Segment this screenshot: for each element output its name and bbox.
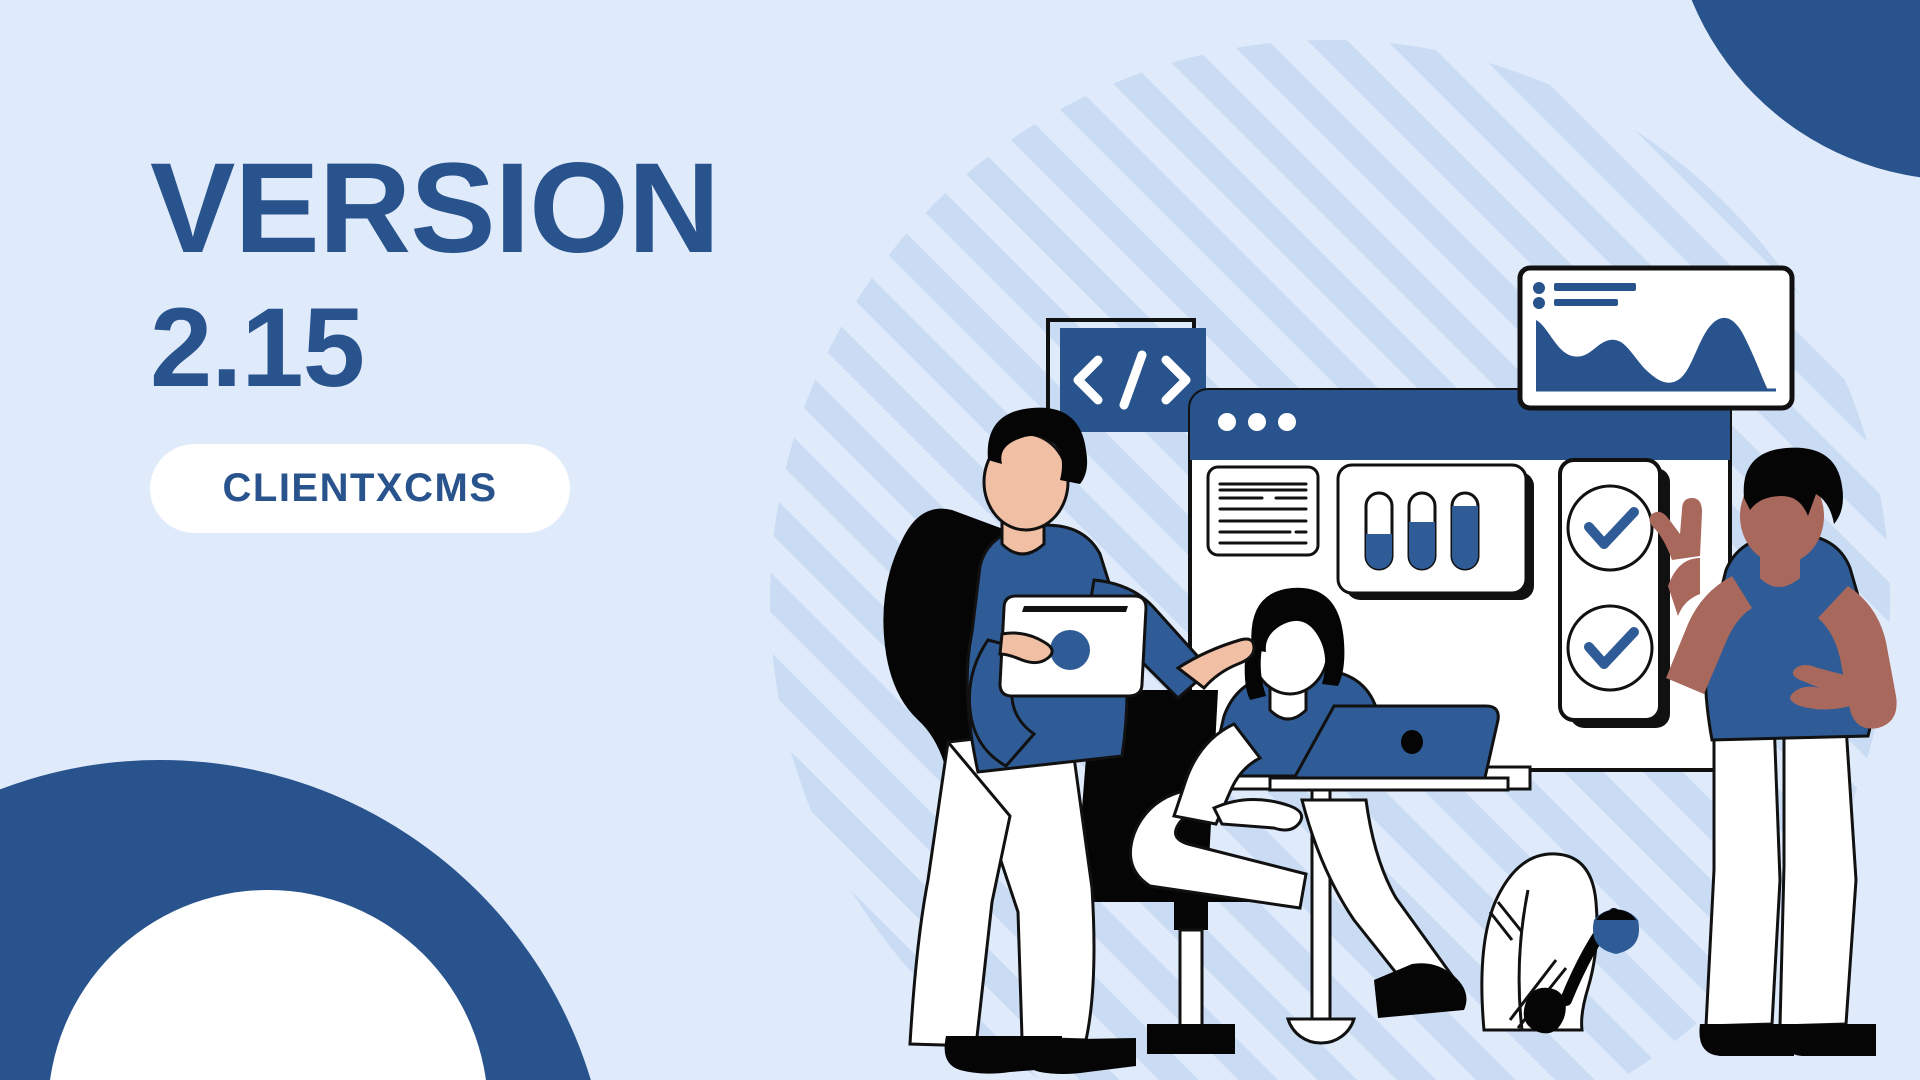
brand-badge: CLIENTXCMS (150, 444, 570, 533)
version-number: 2.15 (150, 292, 870, 404)
brand-badge-label: CLIENTXCMS (223, 466, 498, 511)
window-dots (1218, 413, 1296, 431)
check-item-1 (1568, 486, 1652, 570)
text-lines-card (1208, 467, 1318, 555)
analytics-chart-card (1520, 268, 1792, 408)
hero-copy: VERSION 2.15 CLIENTXCMS (150, 150, 870, 533)
gauge-1 (1366, 493, 1392, 569)
page-title: VERSION (150, 150, 870, 268)
gauge-3 (1452, 493, 1478, 569)
check-item-2 (1568, 606, 1652, 690)
gauge-2 (1409, 493, 1435, 569)
code-snippet-card (1048, 320, 1206, 432)
gauge-card (1338, 465, 1534, 600)
checklist-card (1560, 460, 1670, 728)
